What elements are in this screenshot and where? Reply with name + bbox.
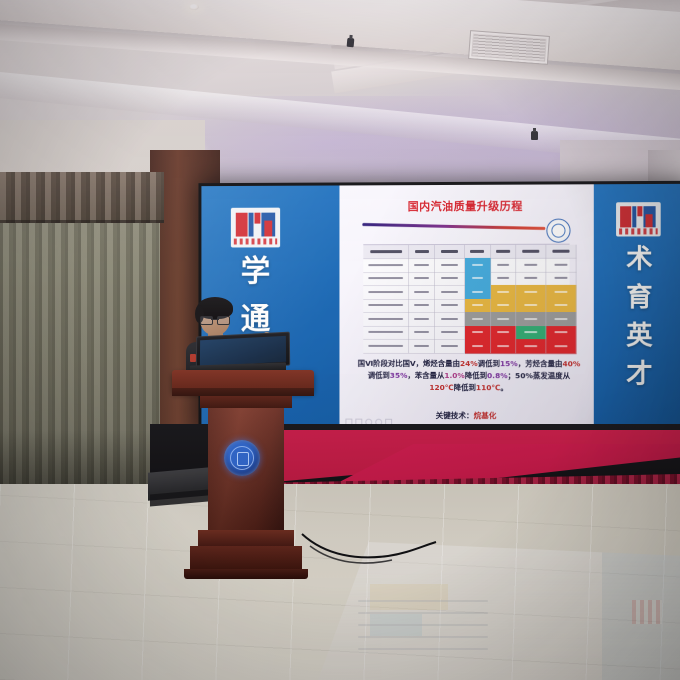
presentation-slide: 国内汽油质量升级历程 国Ⅵ阶段对比国Ⅴ，烯烃含量由24%调低到15%，芳烃含量由…: [339, 184, 593, 430]
table-cell: [435, 312, 465, 326]
blue-circular-seal-icon: [546, 219, 570, 243]
table-cell: [465, 258, 491, 273]
ceiling-sprinkler-2: [531, 131, 538, 140]
table-cell: [491, 272, 517, 287]
downlight-7: [189, 4, 199, 10]
table-row: [363, 312, 569, 326]
table-cell: [363, 285, 409, 299]
table-cell: [435, 299, 465, 313]
table-cell: [516, 258, 546, 273]
table-cell: [409, 339, 435, 353]
table-cell: [546, 285, 576, 300]
table-cell: [546, 299, 576, 314]
institute-logo-right: [616, 202, 661, 236]
table-cell: [491, 299, 517, 314]
table-cell: [465, 312, 491, 327]
wooden-lectern: [178, 370, 308, 582]
table-cell: [491, 312, 517, 327]
table-cell: [363, 326, 409, 340]
lectern-base-foot: [184, 569, 308, 579]
table-cell: [491, 285, 517, 300]
table-cell: [516, 245, 546, 260]
table-cell: [363, 258, 409, 273]
table-cell: [435, 272, 465, 287]
table-row: [363, 299, 569, 313]
table-cell: [465, 339, 491, 354]
table-row: [363, 258, 569, 272]
table-cell: [516, 339, 546, 354]
institute-logo-left: [231, 208, 280, 248]
slide-title-underline: [362, 223, 545, 230]
table-cell: [435, 245, 465, 260]
table-row: [363, 339, 569, 353]
table-cell: [465, 285, 491, 300]
calligraphy-right-3: 英: [612, 323, 667, 350]
table-cell: [409, 326, 435, 340]
floor-cable: [300, 530, 440, 580]
ceiling-sprinkler-1: [347, 38, 355, 48]
table-cell: [516, 285, 546, 300]
table-cell: [435, 339, 465, 354]
table-cell: [546, 339, 576, 354]
table-cell: [546, 258, 576, 273]
table-cell: [465, 272, 491, 287]
lectern-base-upper: [198, 530, 294, 546]
table-cell: [409, 272, 435, 286]
table-cell: [516, 312, 546, 327]
table-cell: [363, 312, 409, 326]
table-cell: [491, 326, 517, 341]
table-cell: [409, 245, 435, 260]
table-cell: [491, 339, 517, 354]
table-cell: [516, 272, 546, 287]
table-cell: [491, 258, 517, 273]
table-cell: [491, 245, 517, 260]
table-cell: [435, 258, 465, 273]
curtain-valance: [0, 172, 164, 223]
conference-hall-scene: 学 通 四 术 育: [0, 0, 680, 680]
laptop-screen: [200, 336, 286, 366]
table-cell: [409, 258, 435, 272]
table-row: [363, 285, 569, 299]
table-cell: [516, 326, 546, 341]
lectern-neck: [200, 396, 292, 408]
table-cell: [363, 272, 409, 286]
table-cell: [409, 299, 435, 313]
table-cell: [363, 245, 409, 260]
floor-gloss: [0, 484, 680, 680]
table-row: [363, 326, 569, 340]
calligraphy-right-2: 育: [612, 285, 667, 312]
slide-body-text: 国Ⅵ阶段对比国Ⅴ，烯烃含量由24%调低到15%，芳烃含量由40%调低到35%，苯…: [357, 358, 581, 395]
table-cell: [465, 245, 491, 260]
ceiling-air-vent: [468, 30, 550, 65]
screen-right-panel: 术 育 英 才: [594, 184, 680, 431]
university-crest-icon: [224, 440, 260, 476]
table-cell: [465, 299, 491, 313]
table-row: [363, 272, 569, 286]
table-cell: [546, 312, 576, 327]
table-cell: [546, 326, 576, 341]
table-cell: [363, 299, 409, 313]
eyeglasses-icon: [200, 316, 230, 323]
table-cell: [546, 272, 576, 287]
table-cell: [546, 244, 576, 259]
table-header-row: [363, 244, 569, 258]
table-cell: [363, 339, 409, 354]
table-cell: [435, 326, 465, 341]
slide-title: 国内汽油质量升级历程: [408, 198, 523, 214]
calligraphy-right-1: 术: [612, 246, 667, 273]
table-cell: [465, 326, 491, 341]
calligraphy-left-1: 学: [225, 257, 286, 287]
slide-data-table: [363, 243, 569, 352]
table-cell: [409, 285, 435, 299]
calligraphy-right-4: 才: [612, 361, 667, 388]
lectern-top-edge: [172, 388, 314, 396]
table-cell: [516, 299, 546, 314]
table-cell: [409, 312, 435, 326]
table-cell: [435, 285, 465, 299]
